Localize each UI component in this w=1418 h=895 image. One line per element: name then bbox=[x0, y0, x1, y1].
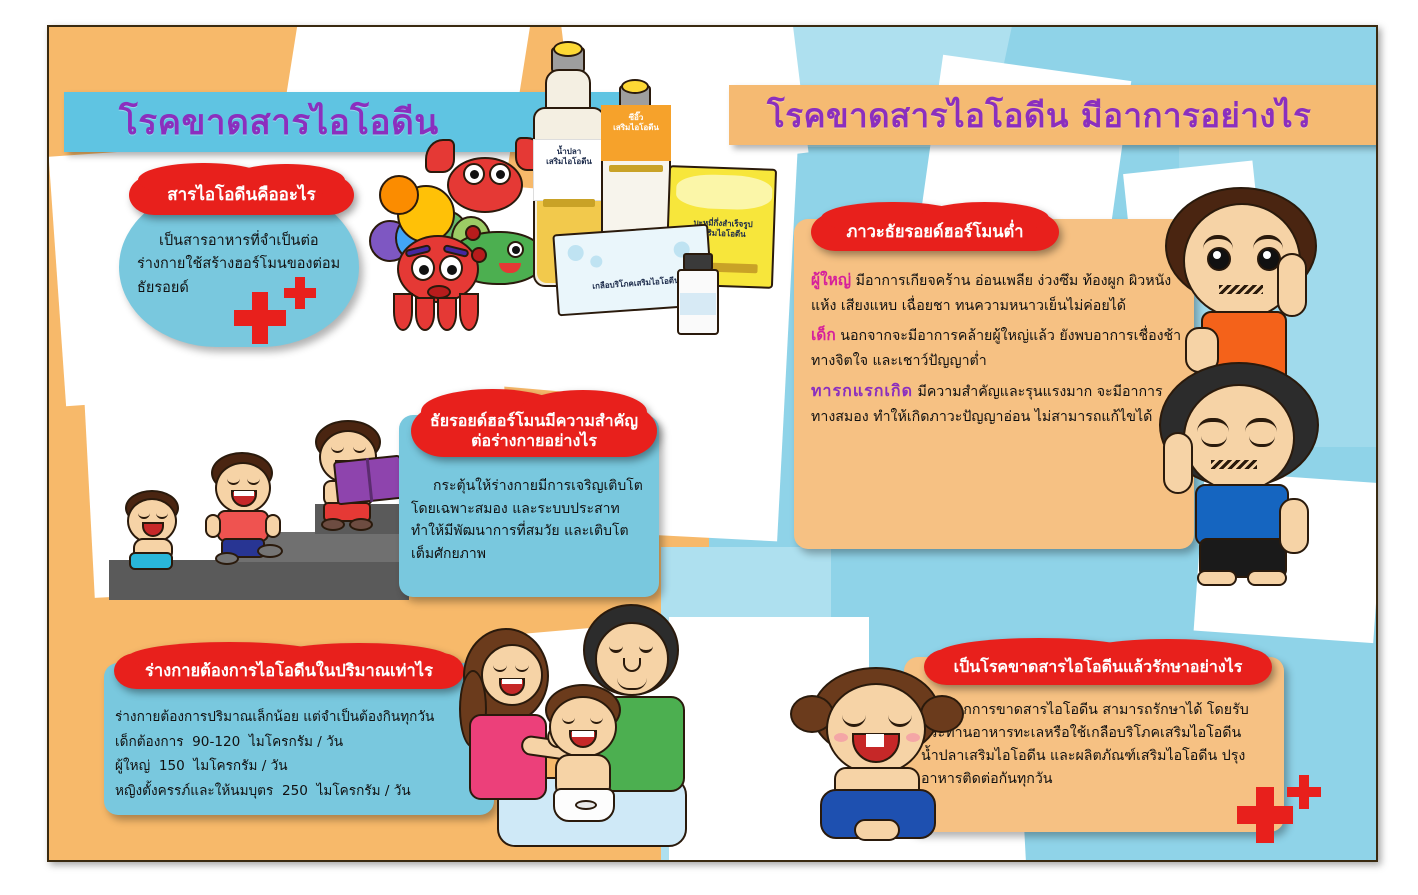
red-cross-decoration-2 bbox=[284, 277, 316, 309]
symptom-group: ผู้ใหญ่ มีอาการเกียจคร้าน อ่อนเพลีย ง่วง… bbox=[811, 267, 1183, 318]
happy-girl-sitting bbox=[794, 667, 984, 847]
symptom-group-label: ผู้ใหญ่ bbox=[811, 271, 851, 289]
daily-requirement-row: ผู้ใหญ่ 150 ไมโครกรัม / วัน bbox=[115, 754, 495, 779]
supplement-bottle bbox=[675, 253, 721, 337]
poster-board: โรคขาดสารไอโอดีน โรคขาดสารไอโอดีน มีอากา… bbox=[47, 25, 1378, 862]
baby-figure bbox=[531, 684, 641, 824]
body-daily-requirement: ร่างกายต้องการปริมาณเล็กน้อย แต่จำเป็นต้… bbox=[115, 705, 495, 804]
iodized-products-group: น้ำปลา เสริมไอโอดีน ซีอิ๊ว เสริมไอโอดีน … bbox=[489, 37, 779, 327]
symptom-group-text: มีอาการเกียจคร้าน อ่อนเพลีย ง่วงซึม ท้อง… bbox=[811, 273, 1171, 314]
badge-treatment-label: เป็นโรคขาดสารไอโอดีนแล้วรักษาอย่างไร bbox=[940, 657, 1257, 677]
badge-what-is-iodine: สารไอโอดีนคืออะไร bbox=[129, 175, 354, 215]
badge-hypothyroid-symptoms: ภาวะธัยรอยด์ฮอร์โมนต่ำ bbox=[811, 213, 1059, 251]
symptom-group-label: เด็ก bbox=[811, 326, 836, 344]
soy-sauce-label: ซีอิ๊ว เสริมไอโอดีน bbox=[601, 113, 671, 133]
child-baby bbox=[119, 490, 195, 570]
body-hypothyroid-symptoms: ผู้ใหญ่ มีอาการเกียจคร้าน อ่อนเพลีย ง่วง… bbox=[811, 267, 1183, 429]
family-with-baby bbox=[439, 592, 719, 852]
badge-what-is-iodine-label: สารไอโอดีนคืออะไร bbox=[153, 185, 329, 206]
daily-requirement-intro: ร่างกายต้องการปริมาณเล็กน้อย แต่จำเป็นต้… bbox=[115, 705, 495, 730]
red-cross-decoration-4 bbox=[1287, 775, 1321, 809]
badge-thyroid-importance: ธัยรอยด์ฮอร์โมนมีความสำคัญ ต่อร่างกายอย่… bbox=[411, 405, 657, 457]
symptom-group: เด็ก นอกจากจะมีอาการคล้ายผู้ใหญ่แล้ว ยัง… bbox=[811, 322, 1183, 373]
badge-thyroid-importance-label: ธัยรอยด์ฮอร์โมนมีความสำคัญ ต่อร่างกายอย่… bbox=[416, 411, 652, 450]
fish-sauce-label: น้ำปลา เสริมไอโอดีน bbox=[533, 147, 605, 167]
daily-requirement-row: เด็กต้องการ 90-120 ไมโครกรัม / วัน bbox=[115, 730, 495, 755]
child-walking bbox=[203, 452, 295, 564]
child-reading bbox=[305, 420, 405, 536]
poster-root: โรคขาดสารไอโอดีน โรคขาดสารไอโอดีน มีอากา… bbox=[0, 0, 1418, 895]
symptom-group: ทารกแรกเกิด มีความสำคัญและรุนแรงมาก จะมี… bbox=[811, 377, 1183, 429]
page-title-right: โรคขาดสารไอโอดีน มีอาการอย่างไร bbox=[767, 89, 1311, 142]
title-banner-right: โรคขาดสารไอโอดีน มีอาการอย่างไร bbox=[729, 85, 1378, 145]
berry-1 bbox=[465, 225, 481, 241]
symptom-group-text: นอกจากจะมีอาการคล้ายผู้ใหญ่แล้ว ยังพบอาก… bbox=[811, 328, 1181, 369]
body-thyroid-importance: กระตุ้นให้ร่างกายมีการเจริญเติบโต โดยเฉพ… bbox=[411, 475, 649, 566]
body-what-is-iodine: เป็นสารอาหารที่จำเป็นต่อร่างกายใช้สร้างฮ… bbox=[137, 230, 349, 300]
red-cross-decoration-1 bbox=[234, 292, 286, 344]
sad-boy-blue bbox=[1149, 362, 1339, 587]
badge-hypothyroid-symptoms-label: ภาวะธัยรอยด์ฮอร์โมนต่ำ bbox=[832, 222, 1037, 242]
pigtail-right bbox=[920, 695, 964, 733]
berry-2 bbox=[471, 247, 487, 263]
red-cross-decoration-3 bbox=[1237, 787, 1293, 843]
sad-boys-pair bbox=[1139, 187, 1369, 587]
orange-sea-creature bbox=[379, 175, 419, 215]
page-title-left: โรคขาดสารไอโอดีน bbox=[119, 95, 439, 150]
badge-daily-requirement: ร่างกายต้องการไอโอดีนในปริมาณเท่าไร bbox=[114, 653, 464, 689]
daily-requirement-row: หญิงตั้งครรภ์และให้นมบุตร 250 ไมโครกรัม … bbox=[115, 779, 495, 804]
symptom-group-label: ทารกแรกเกิด bbox=[811, 381, 913, 400]
badge-daily-requirement-label: ร่างกายต้องการไอโอดีนในปริมาณเท่าไร bbox=[131, 661, 447, 681]
children-growth-steps bbox=[109, 412, 409, 602]
